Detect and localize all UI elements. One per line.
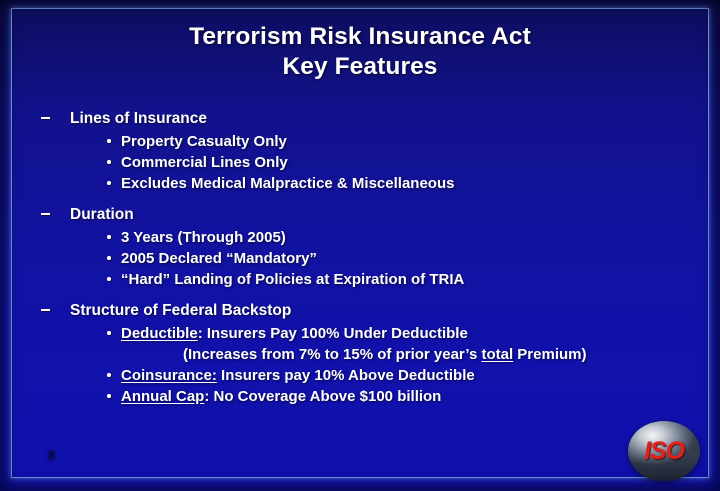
list-item-label: 2005 Declared “Mandatory”	[121, 250, 317, 267]
list-item-label: Commercial Lines Only	[121, 154, 288, 171]
list-item: Excludes Medical Malpractice & Miscellan…	[0, 173, 720, 194]
slide-title: Terrorism Risk Insurance Act Key Feature…	[0, 22, 720, 82]
list-item-deductible-subline: (Increases from 7% to 15% of prior year’…	[0, 344, 720, 365]
dot-bullet-icon	[107, 277, 111, 281]
subline-term: total	[481, 346, 513, 363]
list-item-deductible: Deductible: Insurers Pay 100% Under Dedu…	[0, 323, 720, 344]
list-item: Property Casualty Only	[0, 131, 720, 152]
group-heading-label: Structure of Federal Backstop	[70, 302, 291, 319]
dot-bullet-icon	[107, 160, 111, 164]
bullet-group-duration: Duration 3 Years (Through 2005) 2005 Dec…	[0, 204, 720, 290]
title-line-2: Key Features	[0, 52, 720, 82]
subline-suffix: Premium)	[513, 346, 586, 363]
list-item: 3 Years (Through 2005)	[0, 227, 720, 248]
group-heading-label: Lines of Insurance	[70, 110, 207, 127]
dot-bullet-icon	[107, 373, 111, 377]
logo-text: ISO	[628, 421, 700, 481]
list-item-term: Annual Cap	[121, 388, 204, 405]
subline-prefix: (Increases from 7% to 15% of prior year’…	[183, 346, 481, 363]
list-item-label: 3 Years (Through 2005)	[121, 229, 286, 246]
dash-bullet-icon	[41, 309, 50, 311]
group-heading: Lines of Insurance	[0, 108, 720, 129]
list-item-coinsurance: Coinsurance: Insurers pay 10% Above Dedu…	[0, 365, 720, 386]
group-heading: Structure of Federal Backstop	[0, 300, 720, 321]
dash-bullet-icon	[41, 117, 50, 119]
list-item: 2005 Declared “Mandatory”	[0, 248, 720, 269]
bullet-group-structure-of-federal-backstop: Structure of Federal Backstop Deductible…	[0, 300, 720, 407]
slide-body: Lines of Insurance Property Casualty Onl…	[0, 108, 720, 407]
dot-bullet-icon	[107, 331, 111, 335]
dot-bullet-icon	[107, 256, 111, 260]
list-item-label: : No Coverage Above $100 billion	[204, 388, 441, 405]
title-line-1: Terrorism Risk Insurance Act	[0, 22, 720, 52]
list-item: “Hard” Landing of Policies at Expiration…	[0, 269, 720, 290]
group-heading: Duration	[0, 204, 720, 225]
dot-bullet-icon	[107, 235, 111, 239]
dash-bullet-icon	[41, 213, 50, 215]
group-heading-label: Duration	[70, 206, 134, 223]
presentation-slide: Terrorism Risk Insurance Act Key Feature…	[0, 0, 720, 491]
list-item-label: Insurers pay 10% Above Deductible	[217, 367, 475, 384]
dot-bullet-icon	[107, 181, 111, 185]
list-item-label: : Insurers Pay 100% Under Deductible	[198, 325, 468, 342]
list-item-label: Excludes Medical Malpractice & Miscellan…	[121, 175, 454, 192]
list-item: Commercial Lines Only	[0, 152, 720, 173]
iso-logo: ISO	[628, 421, 700, 481]
dot-bullet-icon	[107, 394, 111, 398]
list-item-label: “Hard” Landing of Policies at Expiration…	[121, 271, 464, 288]
dot-bullet-icon	[107, 139, 111, 143]
list-item-term: Coinsurance:	[121, 367, 217, 384]
list-item-term: Deductible	[121, 325, 198, 342]
bullet-group-lines-of-insurance: Lines of Insurance Property Casualty Onl…	[0, 108, 720, 194]
list-item-label: Property Casualty Only	[121, 133, 287, 150]
list-item-annual-cap: Annual Cap: No Coverage Above $100 billi…	[0, 386, 720, 407]
slide-number: 8	[48, 448, 55, 463]
